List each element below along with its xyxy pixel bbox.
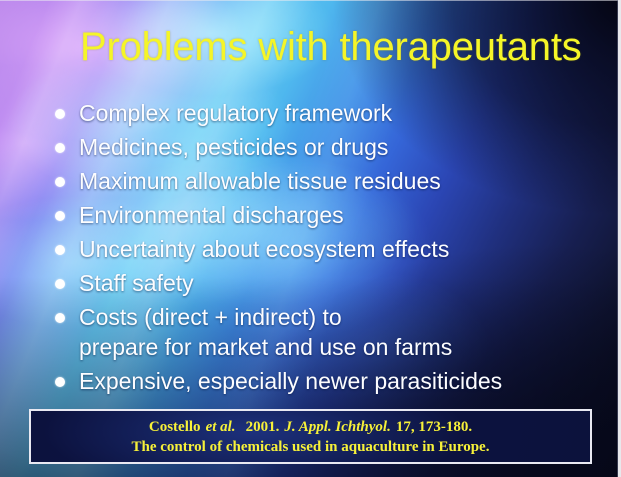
list-item: Staff safety (55, 268, 595, 298)
list-item-content: Medicines, pesticides or drugs (79, 132, 595, 162)
list-item-content: Complex regulatory framework (79, 98, 595, 128)
bullet-dot-icon (55, 245, 65, 255)
list-item-label: Staff safety (79, 270, 194, 296)
list-item-content: Environmental discharges (79, 200, 595, 230)
list-item-label: Maximum allowable tissue residues (79, 168, 441, 194)
citation-line-reference: Costelloet al.2001.J. Appl. Ichthyol.17,… (149, 417, 472, 437)
list-item-content: Uncertainty about ecosystem effects (79, 234, 595, 264)
slide-canvas: Problems with therapeutants Complex regu… (0, 0, 621, 477)
list-item: Uncertainty about ecosystem effects (55, 234, 595, 264)
list-item-content: Expensive, especially newer parasiticide… (79, 366, 595, 396)
list-item: Maximum allowable tissue residues (55, 166, 595, 196)
bullet-dot-icon (55, 177, 65, 187)
citation-journal: J. Appl. Ichthyol. (284, 419, 391, 435)
citation-etal: et al. (206, 419, 236, 435)
list-item-label: Costs (direct + indirect) to (79, 304, 342, 330)
bullet-list: Complex regulatory framework Medicines, … (55, 98, 595, 400)
list-item-label: Uncertainty about ecosystem effects (79, 236, 449, 262)
citation-volume-pages: 17, 173-180. (396, 419, 472, 435)
bullet-dot-icon (55, 279, 65, 289)
slide-title: Problems with therapeutants (80, 25, 600, 70)
bullet-dot-icon (55, 109, 65, 119)
list-item: Complex regulatory framework (55, 98, 595, 128)
list-item: Expensive, especially newer parasiticide… (55, 366, 595, 396)
bullet-dot-icon (55, 211, 65, 221)
citation-authors: Costello (149, 419, 201, 435)
citation-line-title: The control of chemicals used in aquacul… (132, 437, 490, 457)
list-item: Medicines, pesticides or drugs (55, 132, 595, 162)
list-item-content: Maximum allowable tissue residues (79, 166, 595, 196)
list-item: Environmental discharges (55, 200, 595, 230)
list-item-label: Expensive, especially newer parasiticide… (79, 368, 502, 394)
citation-year: 2001. (246, 419, 280, 435)
list-item-label: Complex regulatory framework (79, 100, 392, 126)
list-item-label: Environmental discharges (79, 202, 344, 228)
bullet-dot-icon (55, 377, 65, 387)
bullet-dot-icon (55, 143, 65, 153)
list-item-label: Medicines, pesticides or drugs (79, 134, 388, 160)
list-item-content: Staff safety (79, 268, 595, 298)
bullet-dot-icon (55, 313, 65, 323)
list-item-label-continuation: prepare for market and use on farms (79, 332, 595, 362)
top-edge-strip (0, 0, 621, 1)
citation-box: Costelloet al.2001.J. Appl. Ichthyol.17,… (29, 409, 592, 464)
list-item: Costs (direct + indirect) to prepare for… (55, 302, 595, 362)
list-item-content: Costs (direct + indirect) to prepare for… (79, 302, 595, 362)
